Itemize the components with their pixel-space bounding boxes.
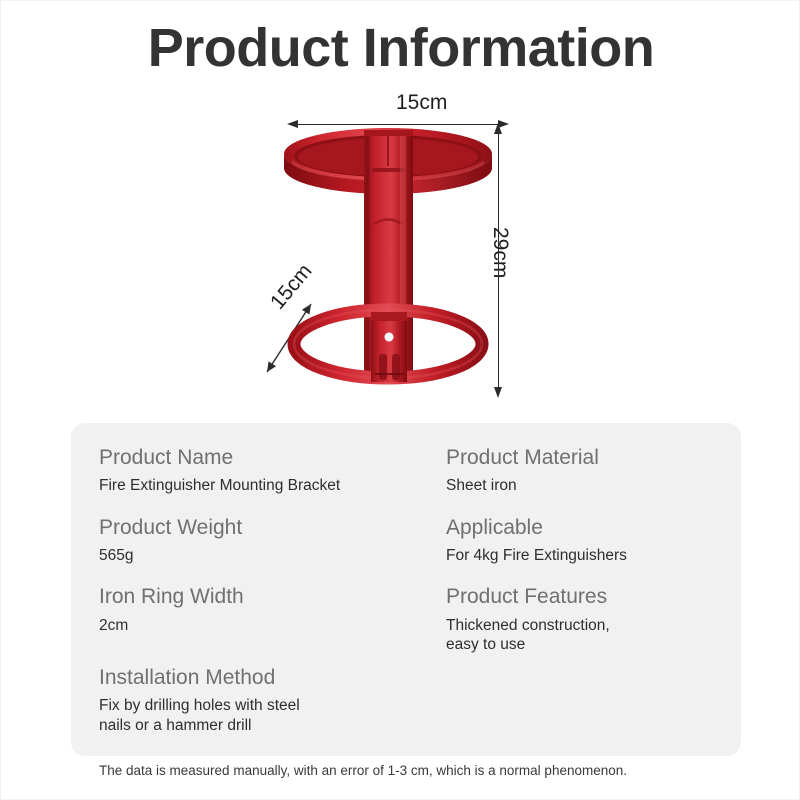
info-label: Product Weight (99, 515, 439, 541)
info-item-iron-ring-width: Iron Ring Width 2cm (99, 584, 439, 635)
info-value: 2cm (99, 616, 439, 635)
info-item-product-features: Product Features Thickened construction,… (446, 584, 736, 654)
info-label: Product Material (446, 445, 736, 471)
info-item-product-name: Product Name Fire Extinguisher Mounting … (99, 445, 439, 496)
info-value: Fire Extinguisher Mounting Bracket (99, 476, 439, 495)
info-item-product-weight: Product Weight 565g (99, 515, 439, 566)
product-figure: 15cm 29cm 15cm (61, 91, 741, 411)
info-item-applicable: Applicable For 4kg Fire Extinguishers (446, 515, 736, 566)
product-illustration (276, 116, 501, 406)
info-value: Thickened construction, easy to use (446, 616, 736, 655)
product-info-panel: Product Name Fire Extinguisher Mounting … (71, 423, 741, 756)
bracket-column-shadow (366, 136, 370, 380)
info-label: Product Features (446, 584, 736, 610)
info-item-product-material: Product Material Sheet iron (446, 445, 736, 496)
bracket-slot-left (379, 354, 387, 380)
info-label: Iron Ring Width (99, 584, 439, 610)
info-column-right: Product Material Sheet iron Applicable F… (446, 445, 736, 673)
measurement-disclaimer: The data is measured manually, with an e… (99, 763, 627, 778)
bracket-column-front-cap (371, 312, 407, 321)
info-value: Fix by drilling holes with steel nails o… (99, 696, 439, 735)
info-value: 565g (99, 546, 439, 565)
info-label: Installation Method (99, 665, 439, 691)
bracket-column-front (371, 312, 407, 382)
screw-hole (385, 333, 394, 342)
bracket-slot-right (392, 354, 400, 380)
info-item-installation-method: Installation Method Fix by drilling hole… (99, 665, 439, 735)
bracket-column-cap (364, 130, 413, 136)
info-label: Product Name (99, 445, 439, 471)
page-root: Product Information 15cm 29cm 15cm (0, 0, 800, 800)
info-column-left: Product Name Fire Extinguisher Mounting … (99, 445, 439, 754)
info-value: For 4kg Fire Extinguishers (446, 546, 736, 565)
info-value: Sheet iron (446, 476, 736, 495)
info-label: Applicable (446, 515, 736, 541)
dimension-label-width-top: 15cm (396, 91, 447, 115)
page-title: Product Information (1, 19, 800, 78)
